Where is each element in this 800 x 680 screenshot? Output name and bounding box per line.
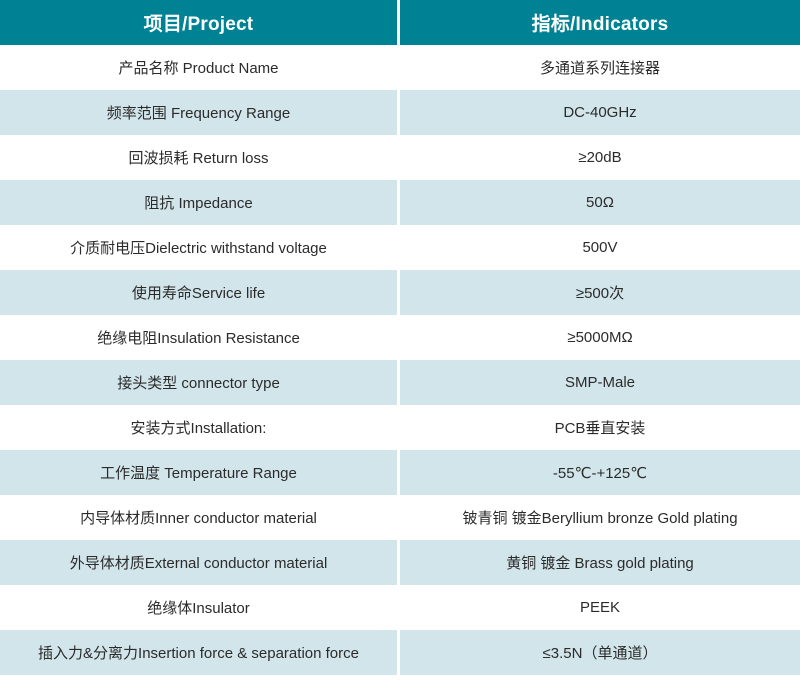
cell-project: 内导体材质Inner conductor material (0, 495, 400, 540)
table-row: 回波损耗 Return loss≥20dB (0, 135, 800, 180)
cell-indicator: PEEK (400, 585, 800, 630)
cell-project: 回波损耗 Return loss (0, 135, 400, 180)
table-row: 介质耐电压Dielectric withstand voltage500V (0, 225, 800, 270)
column-header-project: 项目/Project (0, 0, 400, 45)
column-header-indicator: 指标/Indicators (400, 0, 800, 45)
cell-project: 产品名称 Product Name (0, 45, 400, 90)
cell-project: 绝缘电阻Insulation Resistance (0, 315, 400, 360)
cell-indicator: ≥5000MΩ (400, 315, 800, 360)
cell-indicator: -55℃-+125℃ (400, 450, 800, 495)
cell-indicator: 黄铜 镀金 Brass gold plating (400, 540, 800, 585)
cell-indicator: 铍青铜 镀金Beryllium bronze Gold plating (400, 495, 800, 540)
table-row: 外导体材质External conductor material黄铜 镀金 Br… (0, 540, 800, 585)
table-row: 阻抗 Impedance50Ω (0, 180, 800, 225)
table-row: 安装方式Installation:PCB垂直安装 (0, 405, 800, 450)
table-row: 绝缘体InsulatorPEEK (0, 585, 800, 630)
cell-project: 使用寿命Service life (0, 270, 400, 315)
table-row: 绝缘电阻Insulation Resistance≥5000MΩ (0, 315, 800, 360)
cell-project: 外导体材质External conductor material (0, 540, 400, 585)
cell-project: 介质耐电压Dielectric withstand voltage (0, 225, 400, 270)
cell-indicator: ≥500次 (400, 270, 800, 315)
table-row: 使用寿命Service life≥500次 (0, 270, 800, 315)
table-body: 产品名称 Product Name多通道系列连接器频率范围 Frequency … (0, 45, 800, 675)
table-row: 频率范围 Frequency RangeDC-40GHz (0, 90, 800, 135)
cell-indicator: SMP-Male (400, 360, 800, 405)
table-header: 项目/Project 指标/Indicators (0, 0, 800, 45)
specification-table: 项目/Project 指标/Indicators 产品名称 Product Na… (0, 0, 800, 675)
cell-indicator: PCB垂直安装 (400, 405, 800, 450)
cell-indicator: ≤3.5N（单通道） (400, 630, 800, 675)
cell-indicator: 500V (400, 225, 800, 270)
cell-indicator: ≥20dB (400, 135, 800, 180)
cell-project: 接头类型 connector type (0, 360, 400, 405)
cell-project: 频率范围 Frequency Range (0, 90, 400, 135)
cell-project: 插入力&分离力Insertion force & separation forc… (0, 630, 400, 675)
cell-project: 工作温度 Temperature Range (0, 450, 400, 495)
table-row: 内导体材质Inner conductor material铍青铜 镀金Beryl… (0, 495, 800, 540)
cell-project: 安装方式Installation: (0, 405, 400, 450)
cell-indicator: 多通道系列连接器 (400, 45, 800, 90)
table-header-row: 项目/Project 指标/Indicators (0, 0, 800, 45)
bottom-spacer (0, 675, 800, 680)
cell-indicator: DC-40GHz (400, 90, 800, 135)
cell-indicator: 50Ω (400, 180, 800, 225)
table-row: 插入力&分离力Insertion force & separation forc… (0, 630, 800, 675)
table-row: 产品名称 Product Name多通道系列连接器 (0, 45, 800, 90)
table-row: 工作温度 Temperature Range-55℃-+125℃ (0, 450, 800, 495)
table-row: 接头类型 connector typeSMP-Male (0, 360, 800, 405)
cell-project: 阻抗 Impedance (0, 180, 400, 225)
cell-project: 绝缘体Insulator (0, 585, 400, 630)
